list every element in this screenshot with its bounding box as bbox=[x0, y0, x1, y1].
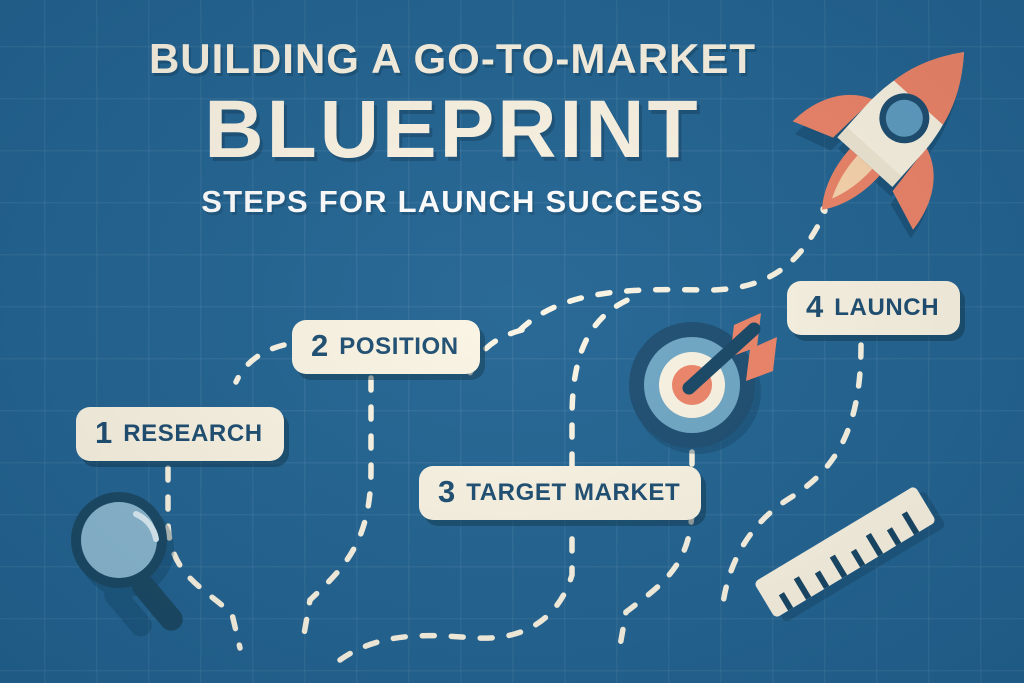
step-label: RESEARCH bbox=[123, 422, 262, 446]
header-block: BUILDING A GO-TO-MARKET BLUEPRINT STEPS … bbox=[0, 38, 905, 217]
step-number: 3 bbox=[438, 476, 455, 507]
step-label: LAUNCH bbox=[834, 296, 939, 320]
title-line-one: BUILDING A GO-TO-MARKET bbox=[0, 38, 905, 80]
step-label: POSITION bbox=[339, 335, 458, 359]
step-number: 4 bbox=[806, 291, 823, 322]
infographic-canvas: BUILDING A GO-TO-MARKET BLUEPRINT STEPS … bbox=[0, 0, 1024, 683]
step-number: 1 bbox=[95, 417, 112, 448]
step-pill-launch[interactable]: 4 LAUNCH bbox=[787, 281, 960, 335]
step-pill-position[interactable]: 2 POSITION bbox=[292, 320, 480, 374]
magnifier-lens bbox=[81, 502, 157, 578]
magnifying-glass-icon bbox=[71, 492, 187, 641]
target-icon bbox=[629, 313, 777, 454]
step-pill-research[interactable]: 1 RESEARCH bbox=[76, 407, 284, 461]
step-number: 2 bbox=[311, 330, 328, 361]
step-pill-target-market[interactable]: 3 TARGET MARKET bbox=[419, 466, 701, 520]
subtitle: STEPS FOR LAUNCH SUCCESS bbox=[0, 186, 905, 217]
step-label: TARGET MARKET bbox=[466, 481, 680, 505]
title-line-two: BLUEPRINT bbox=[0, 88, 905, 172]
ruler-icon bbox=[754, 482, 947, 626]
